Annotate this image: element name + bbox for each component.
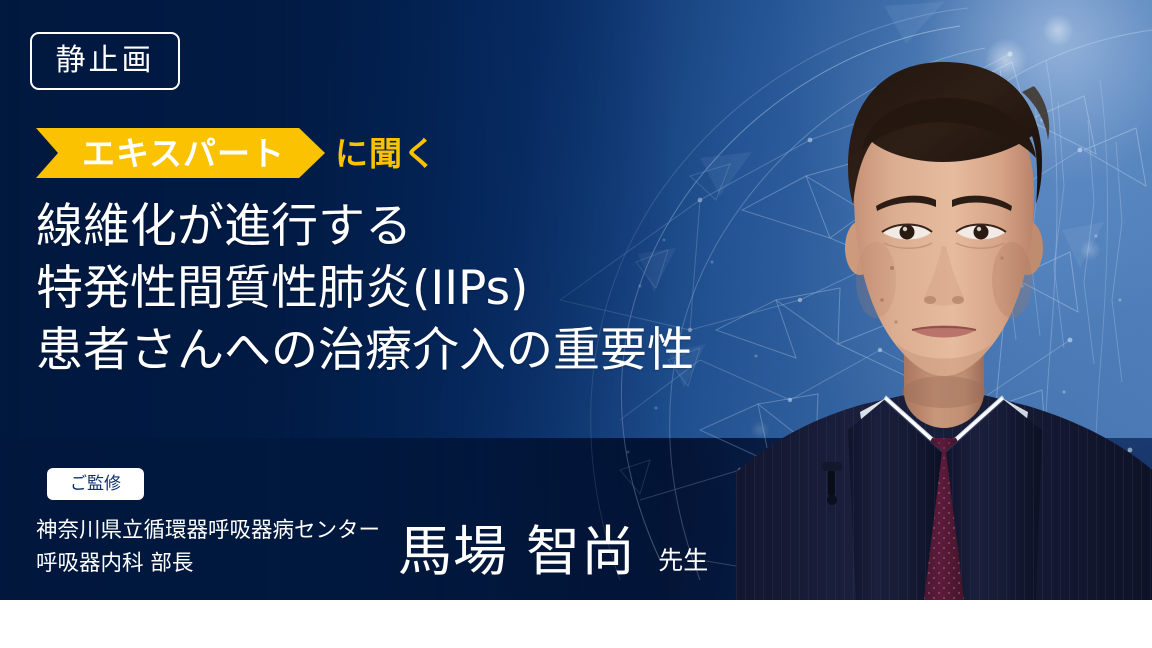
supervisor-badge: ご監修 [47, 468, 144, 500]
title-line-1: 線維化が進行する [36, 196, 694, 258]
affiliation-line-1: 神奈川県立循環器呼吸器病センター [36, 514, 380, 547]
affiliation-line-2: 呼吸器内科 部長 [36, 547, 380, 580]
ribbon-label: エキスパート [36, 128, 325, 178]
title-line-2: 特発性間質性肺炎(IIPs) [36, 258, 694, 320]
page-title: 線維化が進行する 特発性間質性肺炎(IIPs) 患者さんへの治療介入の重要性 [36, 196, 694, 382]
supervisor-credit: 神奈川県立循環器呼吸器病センター 呼吸器内科 部長 馬場 智尚 先生 [36, 514, 708, 583]
footer-strip [0, 600, 1152, 648]
ribbon-tail-label: に聞く [335, 137, 437, 170]
supervisor-affiliation: 神奈川県立循環器呼吸器病センター 呼吸器内科 部長 [36, 514, 380, 583]
supervisor-name: 馬場 智尚 [398, 525, 636, 583]
expert-ribbon: エキスパート に聞く [36, 128, 437, 178]
expert-interview-banner: 静止画 エキスパート に聞く 線維化が進行する 特発性間質性肺炎(IIPs) 患… [0, 0, 1152, 648]
media-type-badge: 静止画 [30, 32, 180, 90]
title-line-3: 患者さんへの治療介入の重要性 [36, 320, 694, 382]
supervisor-honorific: 先生 [658, 548, 708, 583]
